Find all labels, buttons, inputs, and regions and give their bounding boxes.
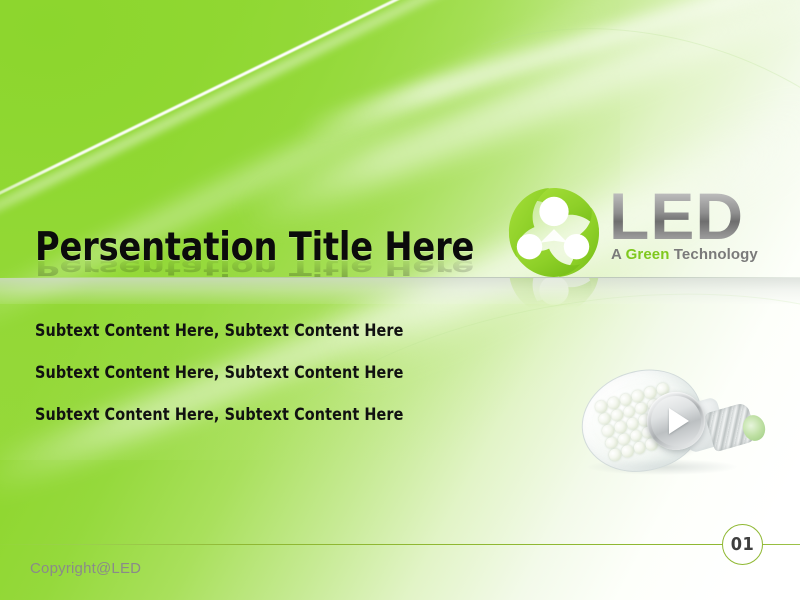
copyright-text: Copyright@LED [30,560,141,577]
footer-divider-line [0,544,800,545]
led-wordmark: LED [609,182,789,250]
presentation-slide: Persentation Title Here Persentation Tit… [0,0,800,600]
subtext-line-3: Subtext Content Here, Subtext Content He… [35,405,442,424]
page-title: Persentation Title Here [35,226,495,278]
subtext-list: Subtext Content Here, Subtext Content He… [35,321,455,447]
page-title-text: Persentation Title Here [35,226,477,270]
tagline-highlight: Green [626,246,670,263]
led-logo: LED A Green Technology [505,186,790,281]
tagline-suffix: Technology [670,246,758,263]
three-people-green-circle-icon [505,186,603,278]
led-tagline: A Green Technology [611,246,789,263]
led-wordmark-block: LED A Green Technology [609,182,789,263]
subtext-line-1: Subtext Content Here, Subtext Content He… [35,321,442,340]
led-bulb-media [575,365,775,480]
page-number-badge: 01 [722,524,763,565]
tagline-prefix: A [611,246,626,263]
play-icon [669,408,689,434]
play-button[interactable] [647,392,705,450]
subtext-line-2: Subtext Content Here, Subtext Content He… [35,363,442,382]
page-number: 01 [731,534,755,555]
slide-background [0,0,800,600]
